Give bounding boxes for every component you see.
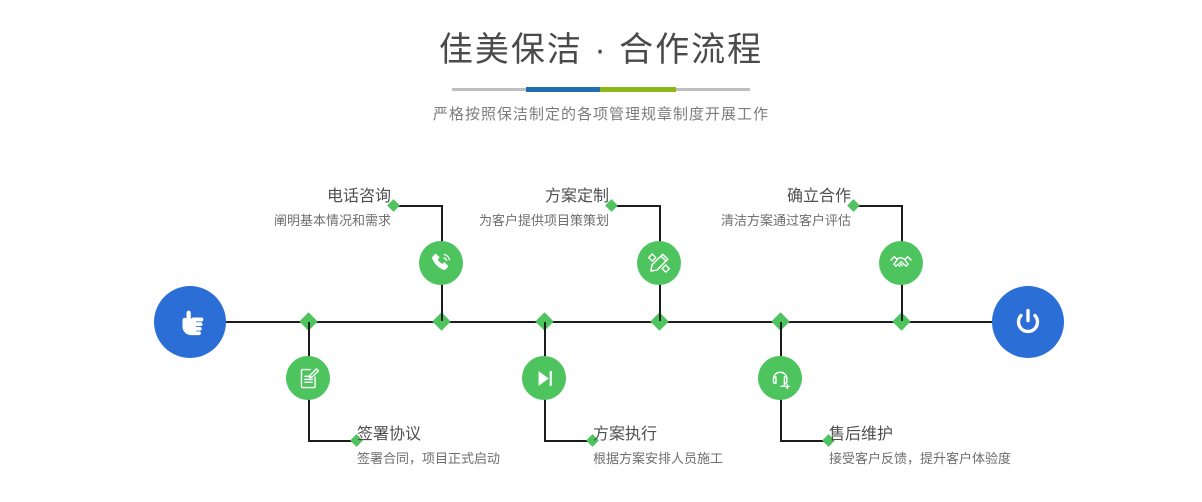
divider-blue-segment (526, 87, 600, 92)
step-icon-bottom-1[interactable] (286, 356, 330, 400)
step-title: 售后维护 (829, 424, 1119, 446)
step-label-bottom-2: 方案执行 根据方案安排人员施工 (593, 424, 853, 469)
step-icon-top-1[interactable] (419, 241, 463, 285)
handshake-icon (888, 250, 914, 276)
divider-green-segment (600, 87, 676, 92)
step-title: 方案执行 (593, 424, 853, 446)
step-label-top-2: 方案定制 为客户提供项目策策划 (359, 186, 609, 231)
page-title: 佳美保洁 · 合作流程 (0, 28, 1202, 72)
step-label-top-3: 确立合作 清洁方案通过客户评估 (596, 186, 851, 231)
phone-call-icon (428, 250, 454, 276)
step-desc: 根据方案安排人员施工 (593, 449, 853, 469)
step-title: 方案定制 (359, 186, 609, 208)
step-desc: 为客户提供项目策策划 (359, 211, 609, 231)
pencil-ruler-icon (646, 250, 672, 276)
headset-support-icon (768, 366, 793, 391)
step-label-top-1: 电话咨询 阐明基本情况和需求 (141, 186, 391, 231)
step-icon-bottom-3[interactable] (758, 356, 802, 400)
step-desc: 接受客户反馈，提升客户体验度 (829, 449, 1119, 469)
step-icon-bottom-2[interactable] (522, 356, 566, 400)
power-button-icon (1009, 303, 1047, 341)
step-desc: 签署合同，项目正式启动 (357, 449, 617, 469)
step-label-bottom-1: 签署协议 签署合同，项目正式启动 (357, 424, 617, 469)
step-icon-top-2[interactable] (637, 241, 681, 285)
step-title: 签署协议 (357, 424, 617, 446)
step-title: 确立合作 (596, 186, 851, 208)
step-desc: 阐明基本情况和需求 (141, 211, 391, 231)
pointing-hand-icon (171, 303, 209, 341)
play-next-icon (532, 366, 557, 391)
connector-arm-top-3 (853, 205, 902, 207)
page-subtitle: 严格按照保洁制定的各项管理规章制度开展工作 (0, 103, 1202, 124)
document-edit-icon (296, 366, 321, 391)
start-node[interactable] (154, 286, 226, 358)
end-node[interactable] (992, 286, 1064, 358)
step-title: 电话咨询 (141, 186, 391, 208)
step-icon-top-3[interactable] (879, 241, 923, 285)
header: 佳美保洁 · 合作流程 严格按照保洁制定的各项管理规章制度开展工作 (0, 28, 1202, 124)
flowchart-canvas: 佳美保洁 · 合作流程 严格按照保洁制定的各项管理规章制度开展工作 (0, 0, 1202, 502)
step-label-bottom-3: 售后维护 接受客户反馈，提升客户体验度 (829, 424, 1119, 469)
step-desc: 清洁方案通过客户评估 (596, 211, 851, 231)
title-divider (452, 88, 750, 91)
